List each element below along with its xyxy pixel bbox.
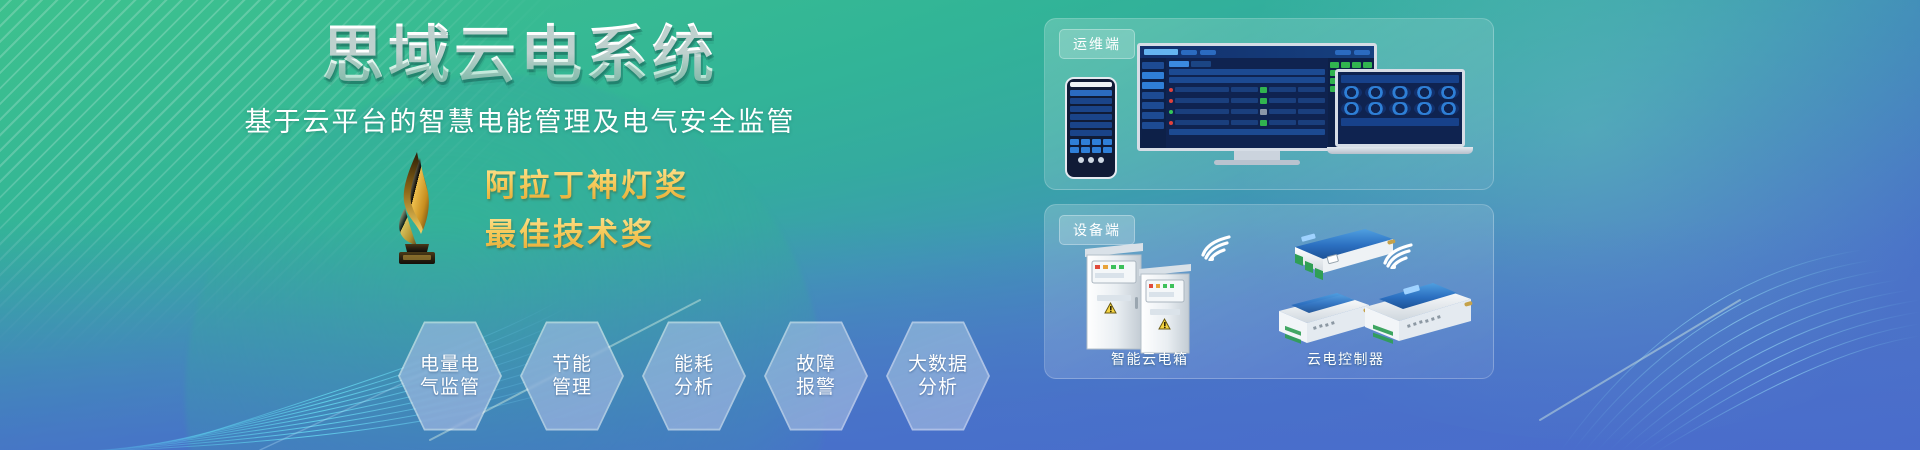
phone-button-grid [1070,139,1112,153]
laptop-keyboard-base [1327,147,1473,154]
dashboard-filter-bar [1169,77,1325,83]
phone-tab-icon [1098,157,1104,163]
gauge-dial [1389,86,1410,99]
panel-tag-operations: 运维端 [1059,29,1135,59]
phone-statusbar [1070,82,1112,87]
laptop-mockup [1327,69,1473,165]
status-dot [1169,121,1173,125]
phone-list-item [1070,114,1112,120]
gauge-dial [1341,102,1362,115]
feature-hexagon-row: 电量电 气监管 节能 管理 能耗 分析 [398,318,990,434]
sidebar-item [1142,112,1164,119]
table-cell [1298,98,1325,103]
wifi-signal-icon [1381,241,1415,274]
table-row [1169,118,1325,127]
dashboard-main [1166,58,1328,151]
gauge-dial [1365,86,1386,99]
phone-list-item [1070,98,1112,104]
phone-list-item [1070,122,1112,128]
feature-line: 能耗 [653,353,735,376]
dashboard-user-pill [1335,50,1351,55]
status-dot [1169,110,1173,114]
table-cell [1175,98,1229,103]
status-led [1363,62,1372,68]
feature-hexagon-2[interactable]: 节能 管理 [520,318,624,434]
status-chip [1260,87,1267,93]
feature-hexagon-label-3: 能耗 分析 [653,353,735,399]
award-line-2: 最佳技术奖 [485,209,689,254]
panel-tag-devices: 设备端 [1059,215,1135,245]
sidebar-item-active [1142,82,1164,89]
smartphone-mockup [1065,77,1117,179]
table-cell [1231,87,1258,92]
feature-hexagon-3[interactable]: 能耗 分析 [642,318,746,434]
dashboard-tab [1191,61,1211,67]
gauge-dial [1414,86,1435,99]
phone-key [1070,139,1079,145]
feature-hexagon-label-1: 电量电 气监管 [409,353,491,399]
table-cell [1231,109,1258,114]
phone-list-item [1070,130,1112,136]
electrical-cabinet-small [1137,259,1193,362]
table-cell [1269,120,1296,125]
table-cell [1231,98,1258,103]
status-led [1341,62,1350,68]
gauge-row [1341,102,1459,115]
dashboard-nav-pill [1181,50,1197,55]
table-cell [1269,98,1296,103]
electrical-cabinet-large [1083,237,1145,358]
dashboard-nav-pill [1200,50,1216,55]
gauge-dial [1414,102,1435,115]
feature-line: 故障 [775,353,857,376]
phone-list-item [1070,106,1112,112]
phone-key [1070,147,1079,153]
page-subtitle: 基于云平台的智慧电能管理及电气安全监管 [0,100,1040,139]
table-cell [1175,120,1229,125]
feature-line: 电量电 [409,353,491,376]
gauge-dial [1438,86,1459,99]
panel-operations: 运维端 [1044,18,1494,190]
status-dot [1169,99,1173,103]
laptop-dashboard [1338,72,1462,144]
feature-line: 气监管 [409,376,491,399]
status-chip [1260,98,1267,104]
sidebar-item [1142,62,1164,69]
phone-key [1092,147,1101,153]
feature-line: 管理 [531,376,613,399]
table-cell [1269,109,1296,114]
award-text-group: 阿拉丁神灯奖 最佳技术奖 [485,160,689,254]
phone-key [1081,147,1090,153]
title-block: 思域云电系统 基于云平台的智慧电能管理及电气安全监管 [0,22,1040,139]
gauge-dial [1438,102,1459,115]
device-caption-cabinet: 智能云电箱 [1111,349,1189,369]
table-cell [1298,120,1325,125]
table-cell [1298,109,1325,114]
feature-hexagon-1[interactable]: 电量电 气监管 [398,318,502,434]
status-chip [1260,120,1267,126]
status-led [1330,62,1339,68]
sidebar-item-active [1142,72,1164,79]
phone-tab-icon [1078,157,1084,163]
gauge-row [1341,86,1459,99]
table-cell [1175,87,1229,92]
status-led [1352,62,1361,68]
trophy-icon [371,148,459,266]
dashboard-sidebar [1140,58,1166,151]
dashboard-tabs [1169,61,1325,67]
status-chip [1260,109,1267,115]
phone-key [1103,147,1112,153]
dashboard-exit-pill [1354,50,1370,55]
promo-banner: 思域云电系统 基于云平台的智慧电能管理及电气安全监管 [0,0,1920,450]
laptop-footer-bar [1341,118,1459,126]
award-line-1: 阿拉丁神灯奖 [485,160,689,205]
left-content-column: 思域云电系统 基于云平台的智慧电能管理及电气安全监管 [0,0,1040,450]
table-row [1169,85,1325,94]
monitor-stand [1234,151,1280,160]
gauge-dial [1341,86,1362,99]
award-block: 阿拉丁神灯奖 最佳技术奖 [150,152,910,262]
phone-header [1070,90,1112,96]
feature-line: 节能 [531,353,613,376]
feature-line: 报警 [775,376,857,399]
dashboard-tab-active [1169,61,1189,67]
table-cell [1269,87,1296,92]
dashboard-pagination [1169,129,1325,135]
table-row [1169,96,1325,105]
dashboard-logo-icon [1144,49,1178,55]
dashboard-titlebar [1140,46,1374,58]
feature-hexagon-label-4: 故障 报警 [775,353,857,399]
laptop-titlebar [1341,75,1459,83]
table-row [1169,107,1325,116]
wifi-signal-icon [1199,233,1233,266]
panel-devices: 设备端 [1044,204,1494,379]
phone-key [1103,139,1112,145]
feature-line: 分析 [897,376,979,399]
feature-hexagon-5[interactable]: 大数据 分析 [886,318,990,434]
feature-hexagon-label-5: 大数据 分析 [897,353,979,399]
feature-line: 大数据 [897,353,979,376]
right-content-column: 运维端 [1044,18,1494,433]
sidebar-item [1142,92,1164,99]
cloud-controller-module-3 [1363,283,1475,354]
gauge-dial [1389,102,1410,115]
dashboard-table-header [1169,69,1325,75]
status-dot [1169,88,1173,92]
table-cell [1175,109,1229,114]
feature-line: 分析 [653,376,735,399]
phone-key [1092,139,1101,145]
sidebar-item [1142,122,1164,129]
gauge-dial [1365,102,1386,115]
phone-tabbar [1070,157,1112,163]
feature-hexagon-label-2: 节能 管理 [531,353,613,399]
feature-hexagon-4[interactable]: 故障 报警 [764,318,868,434]
page-title: 思域云电系统 [0,22,1040,88]
sidebar-item [1142,102,1164,109]
table-cell [1231,120,1258,125]
device-caption-controller: 云电控制器 [1307,349,1385,369]
phone-tab-icon [1088,157,1094,163]
monitor-base [1214,160,1300,165]
table-cell [1298,87,1325,92]
phone-key [1081,139,1090,145]
laptop-screen [1335,69,1465,147]
